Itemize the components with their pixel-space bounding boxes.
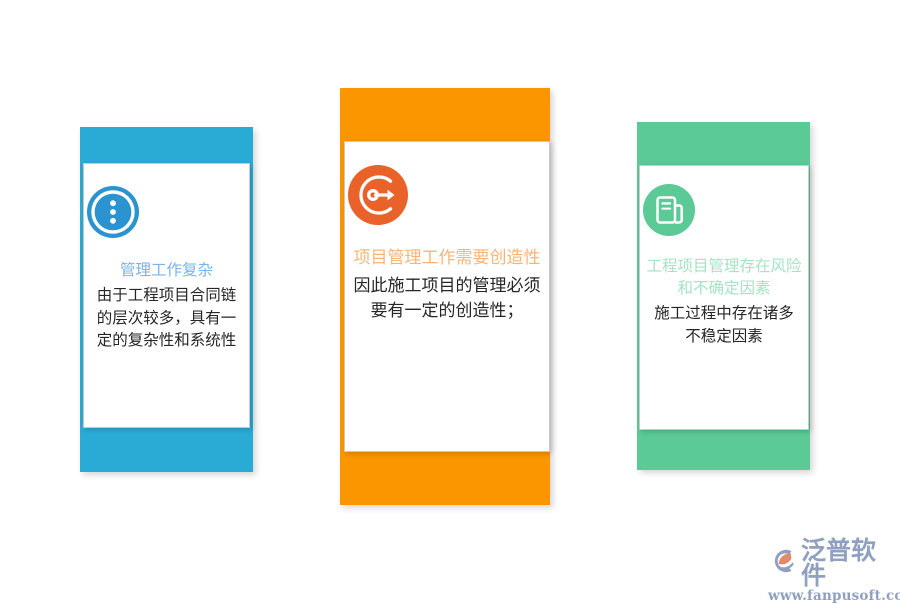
card-content-panel: 项目管理工作需要创造性 因此施工项目的管理必须要有一定的创造性；: [344, 141, 550, 452]
brand-logo[interactable]: 泛普软件 www.fanpusoft.com: [768, 538, 892, 584]
feature-card-management-complexity[interactable]: 管理工作复杂 由于工程项目合同链的层次较多，具有一定的复杂性和系统性: [80, 127, 253, 472]
slide-canvas: 管理工作复杂 由于工程项目合同链的层次较多，具有一定的复杂性和系统性: [0, 0, 900, 600]
logo-row: 泛普软件: [768, 538, 892, 588]
three-dots-circle-icon: [84, 183, 249, 241]
card-content-panel: 工程项目管理存在风险和不确定因素 施工过程中存在诸多不稳定因素: [639, 165, 809, 430]
document-circle-icon: [640, 181, 808, 239]
exit-arrow-circle-icon: [345, 162, 549, 228]
feature-card-creativity[interactable]: 项目管理工作需要创造性 因此施工项目的管理必须要有一定的创造性；: [340, 88, 550, 505]
card-content-panel: 管理工作复杂 由于工程项目合同链的层次较多，具有一定的复杂性和系统性: [83, 163, 250, 428]
logo-company-name: 泛普软件: [801, 538, 892, 588]
card-title: 项目管理工作需要创造性: [345, 246, 549, 270]
fanpu-logo-mark-icon: [768, 547, 798, 579]
logo-website-url: www.fanpusoft.com: [768, 590, 892, 604]
feature-card-risk-uncertainty[interactable]: 工程项目管理存在风险和不确定因素 施工过程中存在诸多不稳定因素: [637, 122, 810, 470]
card-body-text: 因此施工项目的管理必须要有一定的创造性；: [345, 274, 549, 324]
card-title: 工程项目管理存在风险和不确定因素: [640, 255, 808, 299]
card-body-text: 施工过程中存在诸多不稳定因素: [640, 302, 808, 347]
card-body-text: 由于工程项目合同链的层次较多，具有一定的复杂性和系统性: [84, 284, 249, 352]
card-title: 管理工作复杂: [84, 259, 249, 281]
